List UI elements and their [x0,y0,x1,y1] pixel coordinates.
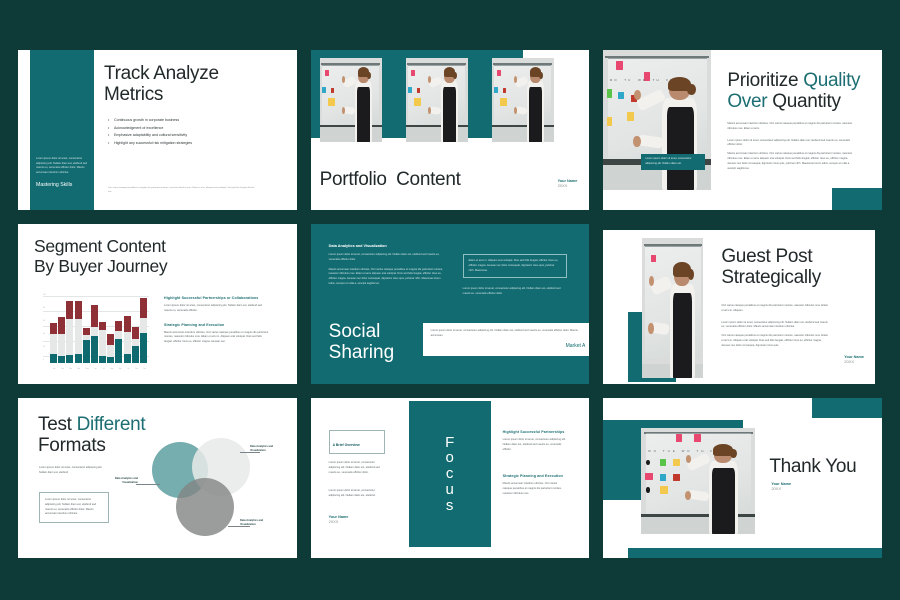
person-figure [664,263,702,378]
slide5-eyebrow: Data Analytics and Visualization [329,244,447,248]
focus-letter: c [446,466,454,482]
slide3-para-3: Mauris accumsan interdum ultricies. Orci… [727,152,857,171]
slide-thank-you[interactable]: MO TUE WD TH FR Tha [603,398,882,558]
slide-test-different-formats[interactable]: Test Different Formats Lorem ipsum dolor… [18,398,297,558]
slide6-title-line2: Strategically [721,267,861,288]
chart-bar-segment [50,354,57,363]
slide6-body: Orci varius natoque penatibus et magnis … [721,304,829,349]
chart-bar-segment [83,328,90,335]
sticky-note-blue [660,474,667,481]
slide-prioritize-quality[interactable]: MO TU WD TH FR Lorem ipsum dolor sit ame… [603,50,882,210]
person-figure [524,68,549,142]
slide1-sidebar-body: Lorem ipsum dolor sit amet, consectetur … [36,157,90,176]
chart-bar-segment [58,317,65,333]
person-dress [529,87,542,142]
chart-bar-segment [66,319,73,355]
slide6-title: Guest Post Strategically [721,246,861,289]
chart-bar [58,317,65,363]
sticky-note-green [607,89,612,97]
chart-bar-segment [91,336,98,363]
slide9-credit: Your Name 20XX [771,482,791,491]
chart-bar-segment [115,331,122,339]
slide3-title-line1: Prioritize Quality [727,70,867,91]
slide3-para-2: Lorem ipsum dolor sit amet, consectetur … [727,139,857,149]
slide4-heading-1: Highlight Successful Partnerships or Col… [164,296,270,300]
chart-bar [83,328,90,363]
slide4-title: Segment Content By Buyer Journey [34,237,274,276]
chart-bar-segment [99,330,106,355]
venn-circle-3 [176,478,234,536]
sticky-note-pink-3 [694,434,701,441]
chart-x-label: Jul [100,369,108,370]
chart-bar [75,301,82,363]
slide1-bullet-list: • Continuous growth in corporate busines… [108,118,258,148]
slide8-year: 20XX [329,519,385,524]
chart-bar-segment [115,339,122,363]
slide5-market-card: Lorem ipsum dolor sit amet, consectetur … [423,323,590,356]
chart-bar-segment [91,305,98,326]
chart-bar [66,301,73,363]
slide8-overview-badge: A Brief Overview [329,430,385,454]
list-item: • Emphasize adaptability and cultural se… [108,133,258,137]
slide2-year: 20XX [558,183,578,188]
slide8-body-1: Lorem ipsum dolor sit amet, consectetur … [503,438,567,452]
chart-bar-segment [140,333,147,363]
sticky-note-yellow-2 [607,117,612,125]
slide3-title-accent2: Over [727,91,767,112]
slide6-credit: Your Name 20XX [844,355,864,364]
slide2-title-part1: Portfolio [320,169,387,190]
slide8-credit: Your Name 20XX [329,515,385,524]
chart-x-label: Jan [50,369,58,370]
sticky-note-yellow [500,98,506,106]
chart-x-label: May [83,369,91,370]
list-item: • Highlight any successful risk mitigati… [108,141,258,145]
slide9-bottom-accent [628,548,882,558]
person-hand-lower [514,107,517,114]
slide3-title-line2: Over Quantity [727,91,867,112]
chart-bar-segment [66,355,73,363]
chart-bar-segment [124,316,131,332]
slide2-photo-3 [492,58,554,142]
bullet-icon: • [108,118,109,122]
person-hair-bun [367,72,371,79]
slide8-right-column: Highlight Successful Partnerships Lorem … [503,430,567,497]
chart-y-label: 40 [43,333,45,335]
chart-bar-segment [115,321,122,330]
slide1-footnote: Orci varius natoque penatibus et magnis … [108,186,258,194]
slide5-para-3: Lorem ipsum dolor sit amet, consectetur … [463,287,567,297]
venn-diagram: Data Analytics and Visualization Data An… [148,438,278,548]
chart-x-label: Dec [141,369,149,370]
person-figure [438,68,463,142]
slide8-left-column: A Brief Overview Lorem ipsum dolor sit a… [329,430,385,524]
slide1-bullet-text: Continuous growth in corporate business [114,118,179,122]
slide3-caption-text: Lorem ipsum dolor sit amet, consectetur … [645,157,701,167]
slide5-para-2: Mauris accumsan interdum ultricies. Orci… [329,268,447,287]
chart-bar-segment [66,301,73,318]
chart-bar [140,298,147,363]
chart-bars-container [50,296,147,363]
slide2-photo-2 [406,58,468,142]
sticky-note-yellow [627,112,633,122]
sticky-note-yellow [673,459,680,466]
sticky-note-pink [325,70,329,76]
chart-bar [91,305,98,363]
slide6-right-bar [875,230,882,384]
chart-bar [115,321,122,363]
person-dress [712,468,735,534]
chart-y-label: 80 [43,307,45,309]
person-hand-upper [686,455,692,463]
slide5-card-body: Lorem ipsum dolor sit amet, consectetur … [431,329,586,339]
person-figure [703,445,746,534]
slide1-bullet-text: Emphasize adaptability and cultural sens… [114,133,187,137]
person-figure [352,68,377,142]
person-hair-bun [688,269,694,280]
slide6-top-bar [603,224,882,230]
slide6-title-line1: Guest Post [721,246,861,267]
chart-y-label: 100 [43,294,46,296]
sticky-note-yellow [414,98,420,106]
slide3-title-plain2: Quantity [772,91,840,112]
person-figure [655,78,707,190]
focus-letter: o [445,450,453,466]
person-hand-lower [428,107,431,114]
sticky-note-yellow-2 [660,486,668,493]
venn-label-top: Data Analytics and Visualization [250,445,282,453]
venn-label-left: Data Analytics and Visualization [106,477,138,485]
slide8-heading-1: Highlight Successful Partnerships [503,430,567,434]
chart-bar-segment [50,334,57,354]
slide8-focus-panel: F o c u s [409,401,491,547]
slide7-title-part1: Test [38,414,72,435]
sticky-note-red [417,88,420,93]
slide4-body-2: Mauris accumsan interdum ultricies. Orci… [164,331,270,345]
slide6-para-3: Orci varius natoque penatibus et magnis … [721,334,829,348]
slide1-sidebar-text-block: Lorem ipsum dolor sit amet, consectetur … [36,157,90,188]
sticky-note-blue [494,87,498,94]
chart-bar-segment [132,327,139,339]
chart-x-label: Aug [108,369,116,370]
slide9-title: Thank You [769,456,856,477]
slide5-title-line2: Sharing [329,343,395,364]
slide4-body-1: Lorem ipsum dolor sit amet, consectetur … [164,304,270,314]
slide-deck-grid: Lorem ipsum dolor sit amet, consectetur … [18,50,882,558]
slide7-title-part2: Different [77,414,146,435]
slide-focus[interactable]: F o c u s A Brief Overview Lorem ipsum d… [311,398,590,558]
sticky-note-red [503,88,506,93]
person-hand-lower [342,107,345,114]
slide4-title-line1: Segment Content [34,237,274,257]
slide5-boxed-text: Etiam et arcu in. Aliquam erat volutpat.… [469,259,561,273]
slide3-title-accent1: Quality [803,70,860,91]
sticky-note-pink [411,70,415,76]
slide6-para-2: Lorem ipsum dolor sit amet, consectetur … [721,321,829,331]
chart-bar-segment [132,346,139,363]
chart-y-label: 0 [43,359,44,361]
sticky-note-green [660,459,667,466]
chart-bar-segment [75,319,82,354]
chart-bar-segment [75,354,82,363]
slide2-title: Portfolio Content [320,169,461,190]
slide7-subtitle: Lorem ipsum dolor sit amet, consectetur … [39,466,109,476]
slide3-title-plain1: Prioritize [727,70,798,91]
chart-bar-segment [58,334,65,357]
sticky-note-blue [618,92,623,99]
slide7-boxed-note: Lorem ipsum dolor sit amet, consectetur … [39,492,109,523]
slide5-title-line1: Social [329,322,395,343]
focus-letter: F [445,435,454,451]
chart-bar [99,322,106,363]
person-dress [673,293,693,378]
slide8-para-1: Lorem ipsum dolor sit amet, consectetur … [329,461,385,475]
chart-bar-segment [75,301,82,320]
sticky-note-pink [497,70,501,76]
sticky-note-blue [408,87,412,94]
slide3-photo-caption: Lorem ipsum dolor sit amet, consectetur … [641,154,705,170]
sticky-note-yellow [328,98,334,106]
slide8-para-2: Lorem ipsum dolor sit amet, consectetur … [329,489,385,499]
person-dress [667,107,694,190]
slide-portfolio-content[interactable]: Portfolio Content Your Name 20XX [311,50,590,210]
person-hand-lower [685,491,691,500]
slide4-text-column: Highlight Successful Partnerships or Col… [164,296,270,345]
chart-bar [50,323,57,363]
slide2-credit: Your Name 20XX [558,179,578,188]
chart-bar [132,327,139,363]
sticky-note-pink [651,255,656,262]
bullet-icon: • [108,126,109,130]
slide-track-analyze-metrics[interactable]: Lorem ipsum dolor sit amet, consectetur … [18,50,297,210]
chart-bar-segment [107,345,114,357]
sticky-note-pink-2 [645,473,653,480]
slide4-heading-2: Strategic Planning and Execution [164,323,270,327]
chart-x-label: Oct [124,369,132,370]
chart-y-label: 60 [43,320,45,322]
chart-bar-segment [99,322,106,330]
slide6-year: 20XX [844,359,864,364]
slide5-left-column: Data Analytics and Visualization Lorem i… [329,244,447,287]
slide8-overview-label: A Brief Overview [333,443,360,447]
slide6-para-1: Orci varius natoque penatibus et magnis … [721,304,829,314]
slide9-year: 20XX [771,486,791,491]
slide8-body-2: Mauris accumsan interdum ultricies. Orci… [503,482,567,496]
sticky-note-blue [322,87,326,94]
list-item: • Continuous growth in corporate busines… [108,118,258,122]
person-hand-lower [648,323,653,334]
slide7-boxed-text: Lorem ipsum dolor sit amet, consectetur … [45,498,103,517]
chart-y-label: 20 [43,346,45,348]
bar-chart: JanFebMarAprMayJunJulAugSepOctNovDec 100… [43,294,149,370]
sticky-note-red [331,88,334,93]
slide2-title-part2: Content [396,169,460,190]
slide5-title: Social Sharing [329,322,395,364]
person-hair-bun [687,84,695,95]
slide-segment-content[interactable]: Segment Content By Buyer Journey JanFebM… [18,224,297,384]
focus-letter: u [445,482,453,498]
person-dress [357,87,370,142]
venn-leader-line-left [136,484,160,485]
slide4-title-line2: By Buyer Journey [34,257,274,277]
chart-bar [124,316,131,363]
chart-x-label: Mar [67,369,75,370]
chart-x-label: Feb [58,369,66,370]
slide1-title-line1: Track Analyze [104,63,259,84]
venn-label-bottom: Data Analytics and Visualization [240,519,272,527]
chart-bar-segment [132,339,139,346]
slide3-teal-corner-accent [832,188,882,210]
chart-bar-segment [91,327,98,336]
slide1-bullet-text: Highlight any successful risk mitigation… [114,141,192,145]
slide5-card-label: Market A [431,343,586,349]
chart-x-label: Nov [133,369,141,370]
person-hair-bun [730,449,737,458]
list-item: • Acknowledgment of excellence [108,126,258,130]
slide-guest-post[interactable]: Guest Post Strategically Orci varius nat… [603,224,882,384]
slide8-focus-letters: F o c u s [409,401,491,547]
chart-bar-segment [50,323,57,334]
slide3-body: Mauris accumsan interdum ultricies. Orci… [727,122,857,171]
chart-x-label: Jun [91,369,99,370]
sticky-note-pink [616,61,622,69]
person-dress [443,87,456,142]
slide9-photo: MO TUE WD TH FR [641,428,755,534]
slide5-para-1: Lorem ipsum dolor sit amet, consectetur … [329,253,447,263]
sticky-note-red [673,474,680,481]
slide-social-sharing[interactable]: Data Analytics and Visualization Lorem i… [311,224,590,384]
slide2-photo-1 [320,58,382,142]
chart-bar-segment [140,318,147,333]
chart-x-label: Apr [75,369,83,370]
slide7-title-line1: Test Different [38,414,188,435]
chart-bar-segment [99,356,106,363]
sticky-note-pink [676,434,683,441]
slide8-heading-2: Strategic Planning and Execution [503,474,567,478]
chart-bar-segment [124,332,131,353]
person-hand-lower [633,136,640,147]
focus-letter: s [446,498,454,514]
chart-bar-segment [58,356,65,363]
slide3-title: Prioritize Quality Over Quantity [727,70,867,113]
slide1-bullet-text: Acknowledgment of excellence [114,126,163,130]
slide5-boxed-note: Etiam et arcu in. Aliquam erat volutpat.… [463,254,567,278]
slide6-photo [642,238,703,378]
bullet-icon: • [108,141,109,145]
person-hair-bun [453,72,457,79]
slide3-para-1: Mauris accumsan interdum ultricies. Orci… [727,122,857,132]
chart-bar-segment [107,334,114,345]
chart-x-label: Sep [116,369,124,370]
chart-bar-segment [124,354,131,363]
chart-bar-segment [107,357,114,363]
slide1-title: Track Analyze Metrics [104,63,259,106]
slide1-sidebar-heading: Mastering Skills [36,182,90,188]
chart-bar-segment [83,340,90,363]
slide9-top-right-accent [812,398,882,418]
person-hair-bun [539,72,543,79]
chart-bar [107,334,114,363]
slide1-title-line2: Metrics [104,84,259,105]
chart-bar-segment [140,298,147,318]
bullet-icon: • [108,133,109,137]
